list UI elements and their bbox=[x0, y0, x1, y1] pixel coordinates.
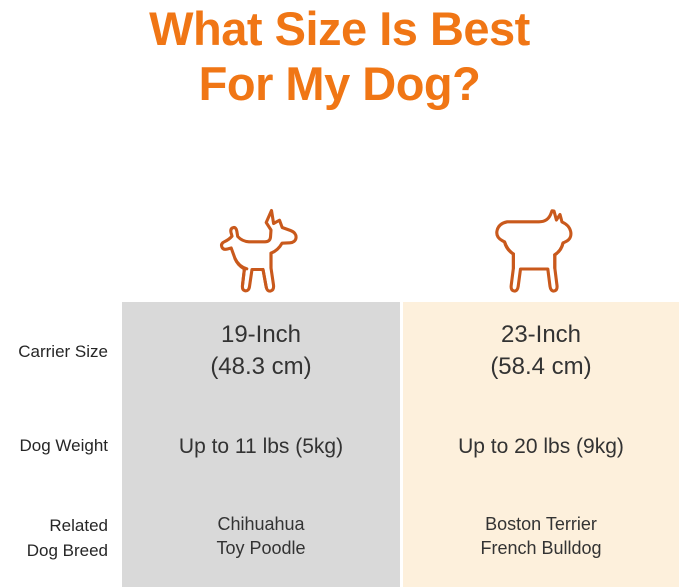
cell-dog-weight-small-value: Up to 11 lbs (5kg) bbox=[122, 433, 400, 461]
cell-carrier-size-small-line-2: (48.3 cm) bbox=[122, 351, 400, 383]
row-label-dog-weight: Dog Weight bbox=[0, 434, 108, 459]
french-bulldog-icon bbox=[471, 206, 601, 298]
cell-carrier-size-small-line-1: 19-Inch bbox=[122, 319, 400, 351]
cell-carrier-size-medium-line-2: (58.4 cm) bbox=[403, 351, 679, 383]
cell-dog-breed-small-line-1: Chihuahua bbox=[122, 512, 400, 536]
cell-dog-breed-medium-line-2: French Bulldog bbox=[403, 536, 679, 560]
cell-carrier-size-small: 19-Inch (48.3 cm) bbox=[122, 319, 400, 384]
cell-dog-breed-small-line-2: Toy Poodle bbox=[122, 536, 400, 560]
row-label-dog-breed-line-1: Related bbox=[0, 514, 108, 539]
cell-dog-breed-medium-line-1: Boston Terrier bbox=[403, 512, 679, 536]
cell-dog-weight-medium: Up to 20 lbs (9kg) bbox=[403, 433, 679, 461]
dog-carrier-size-infographic: What Size Is Best For My Dog? Carrier Si… bbox=[0, 0, 679, 587]
page-title-line-1: What Size Is Best bbox=[0, 2, 679, 57]
row-label-dog-breed: Related Dog Breed bbox=[0, 514, 108, 563]
chihuahua-dog-icon bbox=[196, 206, 326, 298]
cell-dog-weight-medium-value: Up to 20 lbs (9kg) bbox=[403, 433, 679, 461]
cell-dog-breed-medium: Boston Terrier French Bulldog bbox=[403, 512, 679, 561]
cell-carrier-size-medium-line-1: 23-Inch bbox=[403, 319, 679, 351]
row-label-dog-breed-line-2: Dog Breed bbox=[0, 539, 108, 564]
cell-dog-breed-small: Chihuahua Toy Poodle bbox=[122, 512, 400, 561]
cell-dog-weight-small: Up to 11 lbs (5kg) bbox=[122, 433, 400, 461]
row-label-carrier-size: Carrier Size bbox=[0, 340, 108, 365]
page-title-line-2: For My Dog? bbox=[0, 57, 679, 112]
page-title: What Size Is Best For My Dog? bbox=[0, 2, 679, 111]
cell-carrier-size-medium: 23-Inch (58.4 cm) bbox=[403, 319, 679, 384]
